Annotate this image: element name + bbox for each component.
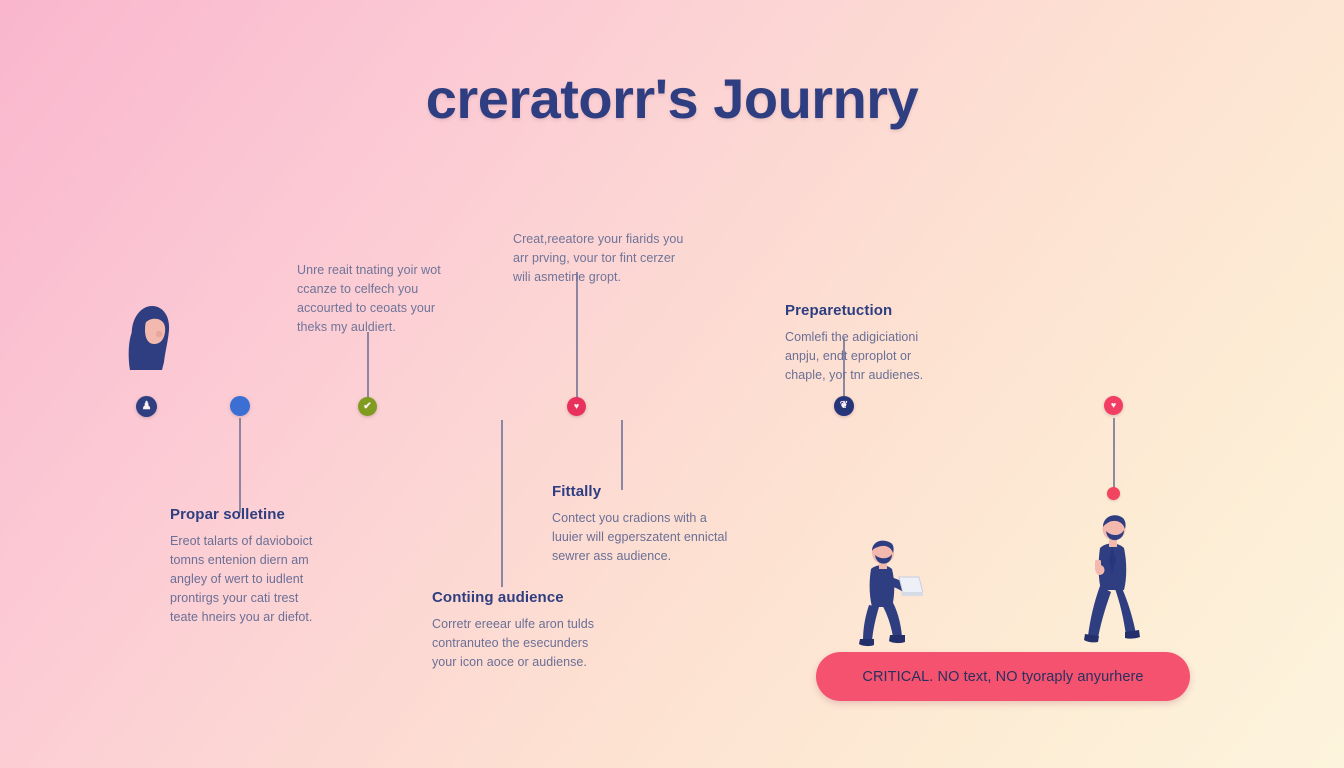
block-body: Comlefi the adigiciationi anpju, endt ep…: [785, 328, 950, 385]
man-with-laptop-illustration: [851, 533, 923, 653]
connector-line-4: [501, 420, 503, 587]
block-title: Contiing audience: [432, 589, 604, 606]
text-block-above-pink: Creat,reeatore your fiarids you arr prvi…: [513, 230, 688, 287]
connector-line-7: [1113, 418, 1115, 488]
timeline-node-bird[interactable]: ❦: [834, 396, 854, 416]
block-body: Creat,reeatore your fiarids you arr prvi…: [513, 230, 688, 287]
timeline-node-blue[interactable]: [230, 396, 250, 416]
heart-icon: ♥: [1111, 401, 1116, 410]
page-title: creratorr's Journry: [0, 66, 1344, 131]
banner-text: CRITICAL. NO text, NO tyoraply anyurhere: [862, 669, 1143, 685]
block-body: Corretr ereear ulfe aron tulds contranut…: [432, 615, 604, 672]
connector-line-1: [239, 418, 241, 513]
block-body: Unre reait tnating yoir wot ccanze to ce…: [297, 261, 457, 337]
text-block-contiing-audience: Contiing audience Corretr ereear ulfe ar…: [432, 589, 604, 672]
timeline-node-pink[interactable]: ♥: [567, 397, 586, 416]
connector-line-2: [367, 332, 369, 398]
check-icon: ✔: [363, 402, 371, 412]
bird-icon: ❦: [840, 401, 848, 411]
heart-icon: ♥: [574, 402, 579, 411]
timeline-node-pink-2[interactable]: ♥: [1104, 396, 1123, 415]
block-body: Contect you cradions with a luuier will …: [552, 509, 730, 566]
infographic-canvas: creratorr's Journry ♟ ✔ ♥ ❦: [0, 0, 1344, 768]
critical-notice-banner[interactable]: CRITICAL. NO text, NO tyoraply anyurhere: [816, 652, 1190, 701]
block-title: Preparetuction: [785, 302, 950, 319]
timeline-node-avatar[interactable]: ♟: [136, 396, 157, 417]
timeline-end-dot: [1107, 487, 1120, 500]
block-title: Propar solletine: [170, 506, 325, 523]
block-body: Ereot talarts of davioboict tomns enteni…: [170, 532, 325, 627]
man-walking-with-phone-illustration: [1082, 508, 1152, 650]
text-block-above-green: Unre reait tnating yoir wot ccanze to ce…: [297, 261, 457, 337]
timeline-node-check[interactable]: ✔: [358, 397, 377, 416]
connector-line-3: [576, 272, 578, 398]
connector-line-5: [621, 420, 623, 490]
block-title: Fittally: [552, 483, 730, 500]
text-block-preparetuction: Preparetuction Comlefi the adigiciationi…: [785, 302, 950, 385]
person-icon: ♟: [142, 401, 152, 412]
text-block-fittally: Fittally Contect you cradions with a luu…: [552, 483, 730, 566]
text-block-propar-solletine: Propar solletine Ereot talarts of daviob…: [170, 506, 325, 627]
woman-profile-illustration: [118, 298, 180, 370]
